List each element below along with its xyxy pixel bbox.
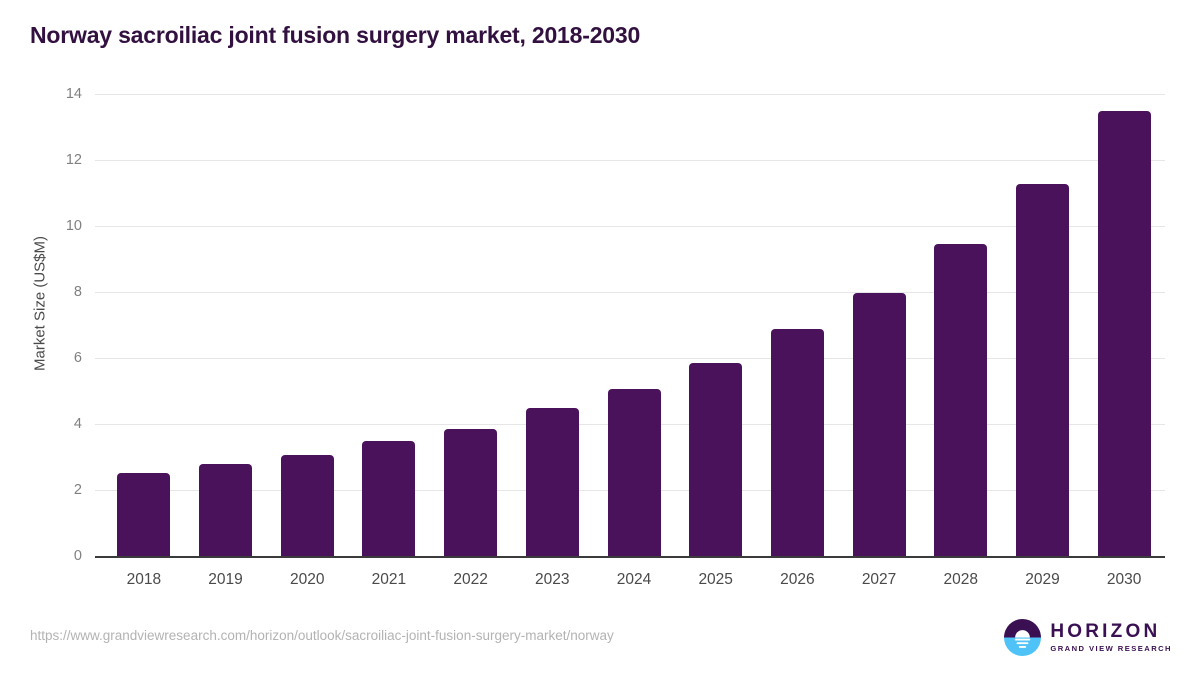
x-axis-tick-label: 2023 [512,571,592,589]
bar[interactable] [362,441,415,556]
y-axis-tick-label: 4 [42,416,82,432]
bar[interactable] [444,429,497,556]
chart-plot-area: Market Size (US$M) 02468101214 201820192… [0,0,1200,675]
x-axis-tick-label: 2020 [267,571,347,589]
gridline [95,292,1165,293]
bar[interactable] [1016,184,1069,556]
bar[interactable] [1098,111,1151,556]
y-axis-tick-label: 14 [42,86,82,102]
x-axis-tick-label: 2026 [757,571,837,589]
bar[interactable] [853,293,906,556]
x-axis-tick-label: 2024 [594,571,674,589]
source-url[interactable]: https://www.grandviewresearch.com/horizo… [30,628,614,643]
x-axis-tick-label: 2028 [921,571,1001,589]
y-axis-tick-label: 8 [42,284,82,300]
bar[interactable] [281,455,334,556]
logo-wordmark: HORIZON [1050,622,1172,641]
y-axis-tick-label: 0 [42,548,82,564]
x-axis-tick-label: 2027 [839,571,919,589]
bar[interactable] [526,408,579,556]
horizon-sunrise-logo-icon [1004,619,1041,656]
bar[interactable] [117,473,170,556]
chart-screenshot: Norway sacroiliac joint fusion surgery m… [0,0,1200,675]
bar[interactable] [608,389,661,556]
gridline [95,94,1165,95]
x-axis-tick-label: 2021 [349,571,429,589]
y-axis-tick-label: 10 [42,218,82,234]
bar[interactable] [771,329,824,556]
x-axis-tick-label: 2025 [676,571,756,589]
x-axis-tick-label: 2022 [431,571,511,589]
x-axis-tick-label: 2030 [1084,571,1164,589]
logo-text-block: HORIZON GRAND VIEW RESEARCH [1050,622,1172,653]
gridline [95,160,1165,161]
y-axis-tick-label: 12 [42,152,82,168]
x-axis-tick-label: 2019 [186,571,266,589]
brand-logo: HORIZON GRAND VIEW RESEARCH [1004,617,1172,657]
y-axis-tick-label: 6 [42,350,82,366]
bar[interactable] [689,363,742,556]
x-axis-tick-label: 2029 [1002,571,1082,589]
logo-tagline: GRAND VIEW RESEARCH [1050,645,1172,653]
y-axis-tick-label: 2 [42,482,82,498]
bar[interactable] [199,464,252,556]
gridline [95,226,1165,227]
x-axis-tick-label: 2018 [104,571,184,589]
bar[interactable] [934,244,987,556]
gridline [95,358,1165,359]
x-axis-line [95,556,1165,558]
